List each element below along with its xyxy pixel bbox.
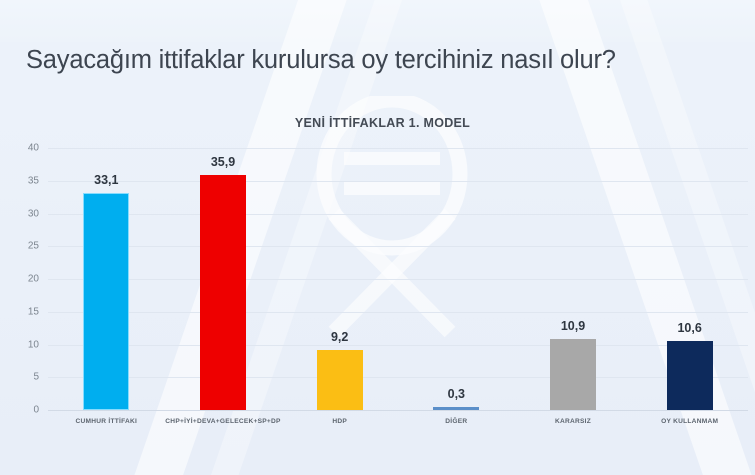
bar-value-label: 0,3: [448, 387, 465, 401]
bar-group[interactable]: 9,2HDP: [317, 148, 363, 410]
bar-value-label: 35,9: [211, 155, 235, 169]
bar-4[interactable]: [550, 339, 596, 410]
bar-group[interactable]: 10,6OY KULLANMAM: [667, 148, 713, 410]
y-axis-tick-30: 30: [28, 208, 39, 219]
y-axis-tick-0: 0: [33, 405, 39, 416]
gridline-0: 0: [48, 410, 748, 411]
bar-5[interactable]: [667, 341, 713, 410]
y-axis-tick-5: 5: [33, 372, 39, 383]
y-axis-tick-20: 20: [28, 274, 39, 285]
y-axis-tick-40: 40: [28, 143, 39, 154]
x-axis-category-label: OY KULLANMAM: [661, 418, 718, 425]
x-axis-category-label: CUMHUR İTTİFAKI: [76, 418, 138, 425]
bar-group[interactable]: 10,9KARARSIZ: [550, 148, 596, 410]
bar-group[interactable]: 35,9CHP+İYİ+DEVA+GELECEK+SP+DP: [200, 148, 246, 410]
x-axis-category-label: KARARSIZ: [555, 418, 591, 425]
chart-bars-layer: 33,1CUMHUR İTTİFAKI35,9CHP+İYİ+DEVA+GELE…: [48, 148, 748, 410]
bar-value-label: 9,2: [331, 330, 348, 344]
bar-group[interactable]: 0,3DİĞER: [433, 148, 479, 410]
y-axis-tick-10: 10: [28, 339, 39, 350]
poll-chart-screenshot: Sayacağım ittifaklar kurulursa oy tercih…: [0, 0, 755, 475]
y-axis-tick-25: 25: [28, 241, 39, 252]
y-axis-tick-15: 15: [28, 306, 39, 317]
x-axis-category-label: CHP+İYİ+DEVA+GELECEK+SP+DP: [165, 418, 280, 425]
bar-2[interactable]: [317, 350, 363, 410]
x-axis-category-label: HDP: [332, 418, 347, 425]
bar-group[interactable]: 33,1CUMHUR İTTİFAKI: [83, 148, 129, 410]
bar-value-label: 10,9: [561, 319, 585, 333]
bar-value-label: 10,6: [677, 321, 701, 335]
bar-value-label: 33,1: [94, 173, 118, 187]
bar-3[interactable]: [433, 407, 479, 411]
bar-0[interactable]: [83, 193, 129, 410]
bar-chart: 0510152025303540 33,1CUMHUR İTTİFAKI35,9…: [0, 0, 755, 475]
x-axis-category-label: DİĞER: [445, 418, 467, 425]
bar-1[interactable]: [200, 175, 246, 410]
y-axis-tick-35: 35: [28, 175, 39, 186]
